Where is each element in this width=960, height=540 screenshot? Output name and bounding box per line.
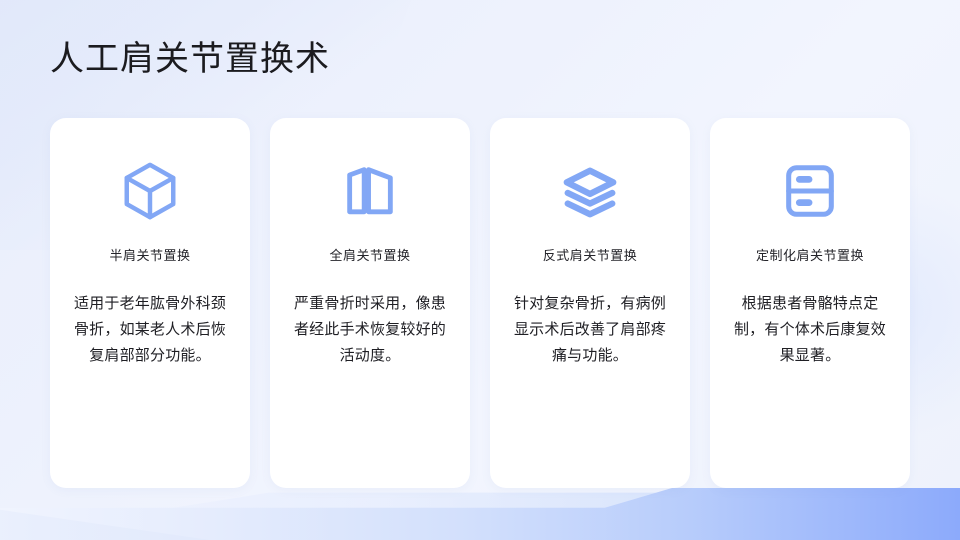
cube-icon (117, 158, 183, 224)
card-heading: 定制化肩关节置换 (756, 248, 864, 265)
drawers-icon (777, 158, 843, 224)
card-body-text: 适用于老年肱骨外科颈骨折，如某老人术后恢复肩部部分功能。 (70, 291, 230, 370)
card-custom-shoulder-replacement[interactable]: 定制化肩关节置换 根据患者骨骼特点定制，有个体术后康复效果显著。 (710, 118, 910, 488)
card-heading: 全肩关节置换 (329, 248, 410, 265)
card-half-shoulder-replacement[interactable]: 半肩关节置换 适用于老年肱骨外科颈骨折，如某老人术后恢复肩部部分功能。 (50, 118, 250, 488)
slide-canvas: 人工肩关节置换术 半肩关节置换 适用于老年肱骨外科颈骨折，如某老人术后恢复肩部部… (0, 0, 960, 540)
card-heading: 半肩关节置换 (109, 248, 190, 265)
bottom-left-triangle-shape (0, 498, 210, 540)
bottom-band-upper-shape (0, 488, 960, 514)
card-heading: 反式肩关节置换 (543, 248, 638, 265)
page-title: 人工肩关节置换术 (50, 38, 330, 81)
layers-icon (557, 158, 623, 224)
bottom-blue-band-shape (0, 488, 960, 540)
card-reverse-shoulder-replacement[interactable]: 反式肩关节置换 针对复杂骨折，有病例显示术后改善了肩部疼痛与功能。 (490, 118, 690, 488)
card-body-text: 根据患者骨骼特点定制，有个体术后康复效果显著。 (730, 291, 890, 370)
card-total-shoulder-replacement[interactable]: 全肩关节置换 严重骨折时采用，像患者经此手术恢复较好的活动度。 (270, 118, 470, 488)
cards-row: 半肩关节置换 适用于老年肱骨外科颈骨折，如某老人术后恢复肩部部分功能。 全肩关节… (50, 118, 910, 488)
book-panels-icon (337, 158, 403, 224)
card-body-text: 针对复杂骨折，有病例显示术后改善了肩部疼痛与功能。 (510, 291, 670, 370)
card-body-text: 严重骨折时采用，像患者经此手术恢复较好的活动度。 (290, 291, 450, 370)
